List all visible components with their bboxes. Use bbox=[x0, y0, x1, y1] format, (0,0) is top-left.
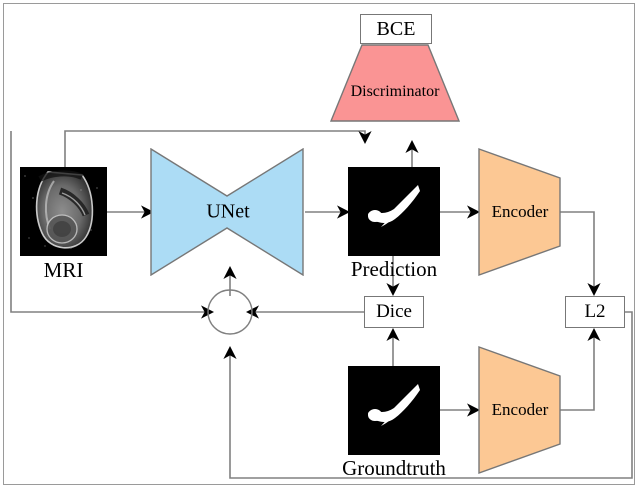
mri-caption: MRI bbox=[20, 258, 107, 283]
bce-loss-box[interactable]: BCE bbox=[360, 14, 432, 44]
mri-scan-image bbox=[20, 167, 107, 256]
dice-label: Dice bbox=[376, 301, 412, 323]
prediction-mask-image bbox=[348, 167, 440, 256]
l2-label: L2 bbox=[584, 301, 605, 323]
encoder-bottom-svg bbox=[478, 346, 562, 474]
edge-encoder-bottom-l2 bbox=[560, 330, 594, 410]
groundtruth-caption: Groundtruth bbox=[325, 456, 463, 481]
edge-encoder-top-l2 bbox=[560, 212, 594, 294]
groundtruth-mask-image bbox=[348, 366, 440, 455]
unet-svg bbox=[150, 148, 306, 276]
diagram-canvas: BCE Discriminator bbox=[0, 0, 640, 489]
discriminator-svg bbox=[330, 44, 460, 122]
encoder-bottom-shape[interactable]: Encoder bbox=[478, 346, 562, 474]
bce-label: BCE bbox=[377, 18, 416, 41]
encoder-top-shape[interactable]: Encoder bbox=[478, 148, 562, 276]
mri-thumbnail[interactable] bbox=[20, 167, 107, 256]
prediction-thumbnail[interactable] bbox=[348, 167, 440, 256]
l2-loss-box[interactable]: L2 bbox=[565, 296, 625, 328]
dice-loss-box[interactable]: Dice bbox=[364, 296, 424, 328]
unet-shape[interactable]: UNet bbox=[150, 148, 306, 276]
prediction-caption: Prediction bbox=[333, 257, 455, 282]
discriminator-shape[interactable]: Discriminator bbox=[330, 44, 460, 122]
encoder-top-svg bbox=[478, 148, 562, 276]
groundtruth-thumbnail[interactable] bbox=[348, 366, 440, 455]
sum-junction-circle bbox=[208, 290, 252, 334]
